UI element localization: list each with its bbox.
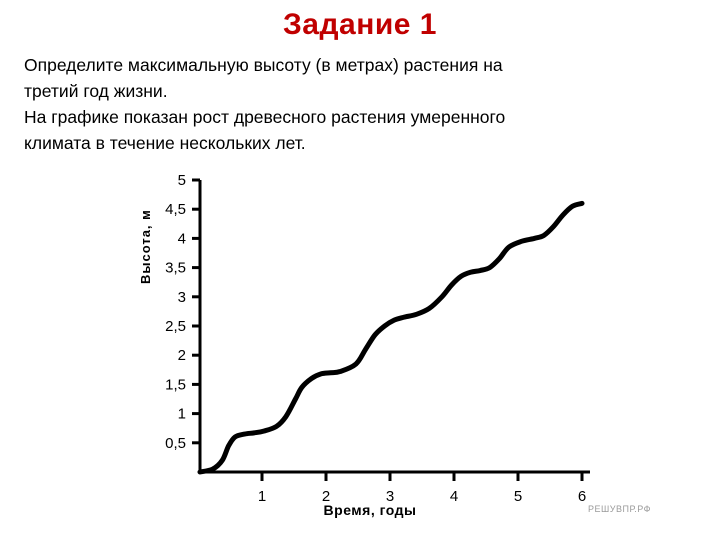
y-tick-label: 2,5 bbox=[165, 318, 186, 335]
y-tick-label: 4,5 bbox=[165, 201, 186, 218]
x-tick-label: 5 bbox=[514, 488, 522, 505]
x-tick-label: 2 bbox=[322, 488, 330, 505]
plot-svg: 5 4,5 4 3,5 3 2,5 2 1,5 1 0,5 1 2 3 4 5 … bbox=[120, 172, 640, 532]
y-tick-label: 1 bbox=[178, 406, 186, 423]
y-tick-label: 1,5 bbox=[165, 376, 186, 393]
prompt-line-3: На графике показан рост древесного расте… bbox=[24, 104, 684, 130]
page-title: Задание 1 bbox=[0, 8, 720, 42]
prompt-line-2: третий год жизни. bbox=[24, 78, 684, 104]
y-tick-label: 0,5 bbox=[165, 435, 186, 452]
prompt-line-1: Определите максимальную высоту (в метрах… bbox=[24, 52, 684, 78]
y-tick-label: 2 bbox=[178, 347, 186, 364]
x-tick-labels: 1 2 3 4 5 6 bbox=[258, 488, 586, 505]
x-tick-label: 3 bbox=[386, 488, 394, 505]
y-tick-labels: 5 4,5 4 3,5 3 2,5 2 1,5 1 0,5 bbox=[165, 172, 186, 452]
growth-curve bbox=[200, 203, 582, 472]
y-tick-label: 3 bbox=[178, 289, 186, 306]
slide-page: Задание 1 Определите максимальную высоту… bbox=[0, 0, 720, 540]
task-prompt: Определите максимальную высоту (в метрах… bbox=[24, 52, 684, 156]
x-tick-label: 1 bbox=[258, 488, 266, 505]
x-tick-label: 6 bbox=[578, 488, 586, 505]
y-tick-label: 5 bbox=[178, 172, 186, 189]
x-tick-label: 4 bbox=[450, 488, 458, 505]
growth-chart: Высота, м Время, годы РЕШУВПР.РФ bbox=[120, 172, 640, 532]
prompt-line-4: климата в течение нескольких лет. bbox=[24, 130, 684, 156]
y-tick-label: 3,5 bbox=[165, 260, 186, 277]
y-tick-label: 4 bbox=[178, 230, 186, 247]
